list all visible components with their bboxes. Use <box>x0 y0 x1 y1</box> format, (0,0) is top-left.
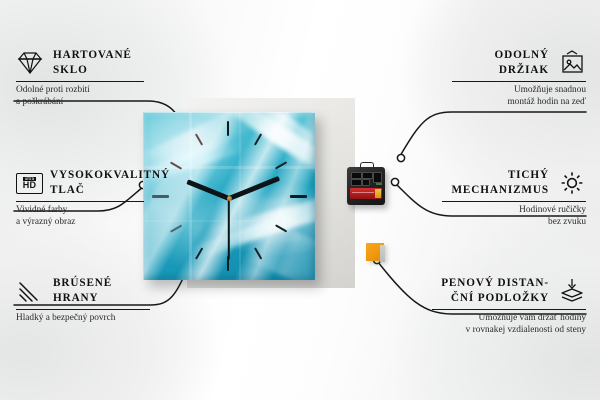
feature-divider <box>16 201 144 202</box>
feature-high-quality-print: ultra HD VYSOKOKVALITNÝ TLAČ Vividné far… <box>16 168 156 229</box>
feature-divider <box>442 201 586 202</box>
movement-hanger-tab <box>360 162 374 170</box>
feature-title: BRÚSENÉ HRANY <box>44 276 112 305</box>
feature-tempered-glass: HARTOVANÉ SKLO Odolné proti rozbití a po… <box>16 48 156 109</box>
feature-foam-spacers: PENOVÝ DISTAN- ČNÍ PODLOŽKY Umožňuje vám… <box>432 276 586 337</box>
feature-polished-edges: BRÚSENÉ HRANY Hladký a bezpečný povrch <box>16 276 162 325</box>
polished-edges-icon <box>16 278 44 304</box>
feature-title: TICHÝ MECHANIZMUS <box>442 168 558 197</box>
feature-silent-mechanism: TICHÝ MECHANIZMUS Hodinové ručičky bez z… <box>442 168 586 229</box>
battery <box>350 188 382 199</box>
feature-header: ODOLNÝ DRŽIAK <box>452 48 586 77</box>
feature-title: ODOLNÝ DRŽIAK <box>452 48 558 77</box>
gear-icon <box>558 170 586 196</box>
feature-divider <box>432 309 586 310</box>
ultra-hd-icon: ultra HD <box>16 173 41 192</box>
feature-description: Umožňuje vám držať hodiny v rovnakej vzd… <box>432 313 586 337</box>
feature-divider <box>16 309 150 310</box>
feature-header: BRÚSENÉ HRANY <box>16 276 162 305</box>
connector-hanger <box>400 112 586 156</box>
diamond-icon <box>16 50 44 76</box>
feature-description: Umožňuje snadnou montáž hodin na zeď <box>452 85 586 109</box>
foam-spacer-pad <box>366 243 384 261</box>
feature-divider <box>16 81 144 82</box>
product-photo <box>143 98 355 290</box>
connector-dot-hanger <box>397 154 404 161</box>
feature-title: VYSOKOKVALITNÝ TLAČ <box>41 168 170 197</box>
feature-divider <box>452 81 586 82</box>
feature-description: Vividné farby a výrazný obraz <box>16 205 156 229</box>
feature-description: Odolné proti rozbití a poškrábání <box>16 85 156 109</box>
feature-description: Hladký a bezpečný povrch <box>16 313 162 325</box>
feature-title: PENOVÝ DISTAN- ČNÍ PODLOŽKY <box>432 276 558 305</box>
feature-header: TICHÝ MECHANIZMUS <box>442 168 586 197</box>
feature-title: HARTOVANÉ SKLO <box>44 48 132 77</box>
clock-movement <box>347 167 385 205</box>
feature-header: ultra HD VYSOKOKVALITNÝ TLAČ <box>16 168 156 197</box>
product-infographic: HARTOVANÉ SKLO Odolné proti rozbití a po… <box>0 0 600 400</box>
movement-indicator <box>376 183 382 185</box>
feature-description: Hodinové ručičky bez zvuku <box>442 205 586 229</box>
feature-durable-hanger: ODOLNÝ DRŽIAK Umožňuje snadnou montáž ho… <box>452 48 586 109</box>
connector-dot-mechanism <box>391 178 398 185</box>
feature-header: HARTOVANÉ SKLO <box>16 48 156 77</box>
feature-header: PENOVÝ DISTAN- ČNÍ PODLOŽKY <box>432 276 586 305</box>
stacked-pads-arrow-icon <box>558 278 586 304</box>
wall-frame-hanger-icon <box>558 50 586 76</box>
